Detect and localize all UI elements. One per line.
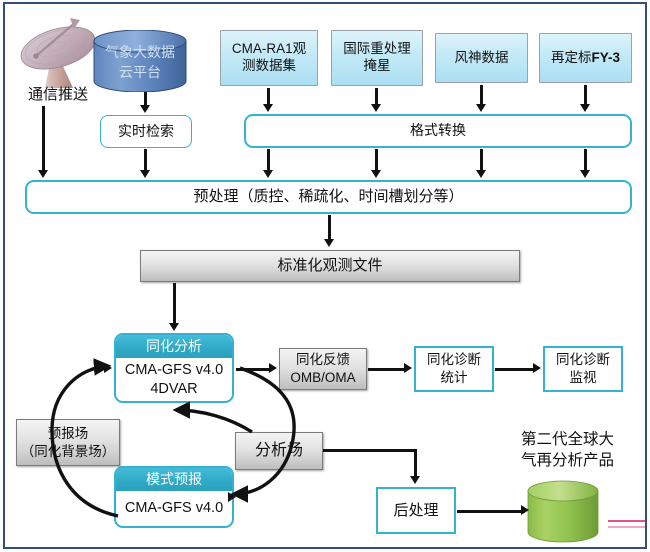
source-box-fengshen-line1: 风神数据: [455, 50, 509, 67]
arrowhead-format-to-preprocessing-4: [580, 170, 590, 178]
green-database-cylinder-icon: [525, 480, 601, 544]
source-box-cma-ra1[interactable]: CMA-RA1观 测数据集: [220, 30, 318, 86]
source-box-occultation-line1: 国际重处理: [343, 41, 411, 58]
analysis-field-label: 分析场: [255, 441, 303, 462]
connector-postprocessing-to-product: [457, 510, 525, 513]
arrowhead-format-to-preprocessing-3: [476, 170, 486, 178]
preprocessing-label: 预处理（质控、稀疏化、时间槽划分等）: [193, 188, 463, 207]
connector-feedback-to-diagstats: [368, 368, 406, 371]
source-box-cma-ra1-line2: 测数据集: [232, 58, 306, 75]
connector-diagstats-to-diagmonitor: [495, 368, 535, 371]
arrowhead-analysisfield-to-postprocessing: [410, 476, 420, 484]
arrowhead-preprocessing-to-stdfile: [324, 239, 334, 247]
background-field-line2: （同化背景场）: [21, 443, 116, 461]
standard-obs-file-box[interactable]: 标准化观测文件: [140, 250, 520, 282]
flowchart-diagram: 通信推送 气象大数据 云平台 CM: [0, 0, 650, 552]
connector-retrieval-to-preprocessing: [144, 149, 147, 171]
arrowhead-ra1-to-format: [263, 104, 273, 112]
assimilation-analysis-card[interactable]: 同化分析 CMA-GFS v4.0 4DVAR: [114, 333, 234, 403]
assimilation-analysis-line2: 4DVAR: [125, 380, 223, 399]
connector-preprocessing-to-stdfile: [328, 215, 331, 241]
product-label-line1: 第二代全球大: [500, 431, 635, 450]
assimilation-feedback-line2: OMB/OMA: [290, 369, 355, 387]
arrowhead-satellite-to-preprocessing: [38, 170, 48, 178]
format-conversion-box[interactable]: 格式转换: [244, 114, 632, 148]
background-field-line1: 预报场: [21, 425, 116, 443]
connector-analysisfield-right: [323, 449, 416, 452]
assimilation-analysis-header: 同化分析: [116, 335, 232, 358]
preprocessing-box[interactable]: 预处理（质控、稀疏化、时间槽划分等）: [25, 180, 632, 214]
model-forecast-body: CMA-GFS v4.0: [116, 491, 232, 526]
connector-analysiscard-to-feedback: [236, 368, 271, 371]
arrowhead-stdfile-to-analysis: [169, 323, 179, 331]
arrowhead-analysiscard-to-feedback: [269, 363, 277, 373]
source-box-fy3-suffix: FY-3: [591, 50, 620, 65]
connector-format-to-preprocessing-3: [480, 149, 483, 171]
assimilation-feedback-line1: 同化反馈: [290, 351, 355, 369]
cloud-platform-label-line1: 气象大数据: [90, 44, 190, 62]
arrowhead-analysisfield-to-forecastcard: [228, 492, 236, 502]
product-label-line2: 气再分析产品: [500, 452, 635, 471]
analysis-field-box[interactable]: 分析场: [235, 432, 323, 470]
arrowhead-format-to-preprocessing-1: [263, 170, 273, 178]
arrowhead-postprocessing-to-product: [521, 505, 529, 515]
arrowhead-retrieval-to-preprocessing: [140, 170, 150, 178]
source-box-fengshen[interactable]: 风神数据: [435, 33, 528, 83]
model-forecast-card[interactable]: 模式预报 CMA-GFS v4.0: [114, 466, 234, 528]
arrowhead-diagstats-to-diagmonitor: [533, 363, 541, 373]
post-processing-box[interactable]: 后处理: [376, 487, 456, 534]
connector-fengshen-to-format: [480, 85, 483, 106]
diagnostic-statistics-line1: 同化诊断: [427, 351, 481, 369]
diagnostic-monitor-line1: 同化诊断: [556, 351, 610, 369]
cloud-platform-label-line2: 云平台: [90, 64, 190, 82]
arrowhead-feedback-to-diagstats: [404, 363, 412, 373]
connector-format-to-preprocessing-4: [584, 149, 587, 171]
model-forecast-line1: CMA-GFS v4.0: [125, 499, 223, 518]
source-box-cma-ra1-line1: CMA-RA1观: [232, 41, 306, 58]
arrowhead-fengshen-to-format: [476, 104, 486, 112]
connector-format-to-preprocessing-2: [375, 149, 378, 171]
pink-accent-line-top: [608, 520, 647, 522]
source-box-fy3[interactable]: 再定标FY-3: [539, 33, 632, 83]
source-box-occultation-line2: 掩星: [343, 58, 411, 75]
assimilation-feedback-box[interactable]: 同化反馈 OMB/OMA: [279, 348, 367, 390]
connector-satellite-to-preprocessing: [42, 106, 45, 172]
realtime-retrieval-label: 实时检索: [118, 123, 174, 141]
connector-fy3-to-format: [584, 85, 587, 106]
realtime-retrieval-box[interactable]: 实时检索: [100, 115, 192, 148]
background-field-box[interactable]: 预报场 （同化背景场）: [16, 419, 120, 466]
arrowhead-format-to-preprocessing-2: [371, 170, 381, 178]
source-box-occultation[interactable]: 国际重处理 掩星: [331, 30, 423, 86]
diagnostic-monitor-box[interactable]: 同化诊断 监视: [543, 346, 623, 392]
arrowhead-fy3-to-format: [580, 104, 590, 112]
standard-obs-file-label: 标准化观测文件: [277, 256, 382, 276]
arrowhead-background-to-analysiscard: [104, 363, 112, 373]
format-conversion-label: 格式转换: [410, 122, 466, 140]
assimilation-analysis-body: CMA-GFS v4.0 4DVAR: [116, 358, 232, 401]
arrowhead-occultation-to-format: [371, 104, 381, 112]
diagnostic-monitor-line2: 监视: [556, 369, 610, 387]
assimilation-analysis-line1: CMA-GFS v4.0: [125, 361, 223, 380]
pink-accent-line-bottom: [608, 526, 647, 528]
arrowhead-clouddb-to-retrieval: [140, 105, 150, 113]
post-processing-label: 后处理: [393, 501, 438, 521]
connector-analysisfield-down: [414, 449, 417, 478]
connector-stdfile-to-analysis: [173, 283, 176, 325]
connector-format-to-preprocessing-1: [267, 149, 270, 171]
diagnostic-statistics-line2: 统计: [427, 369, 481, 387]
diagnostic-statistics-box[interactable]: 同化诊断 统计: [414, 346, 494, 392]
source-box-fy3-line1: 再定标: [551, 50, 592, 65]
model-forecast-header: 模式预报: [116, 468, 232, 491]
